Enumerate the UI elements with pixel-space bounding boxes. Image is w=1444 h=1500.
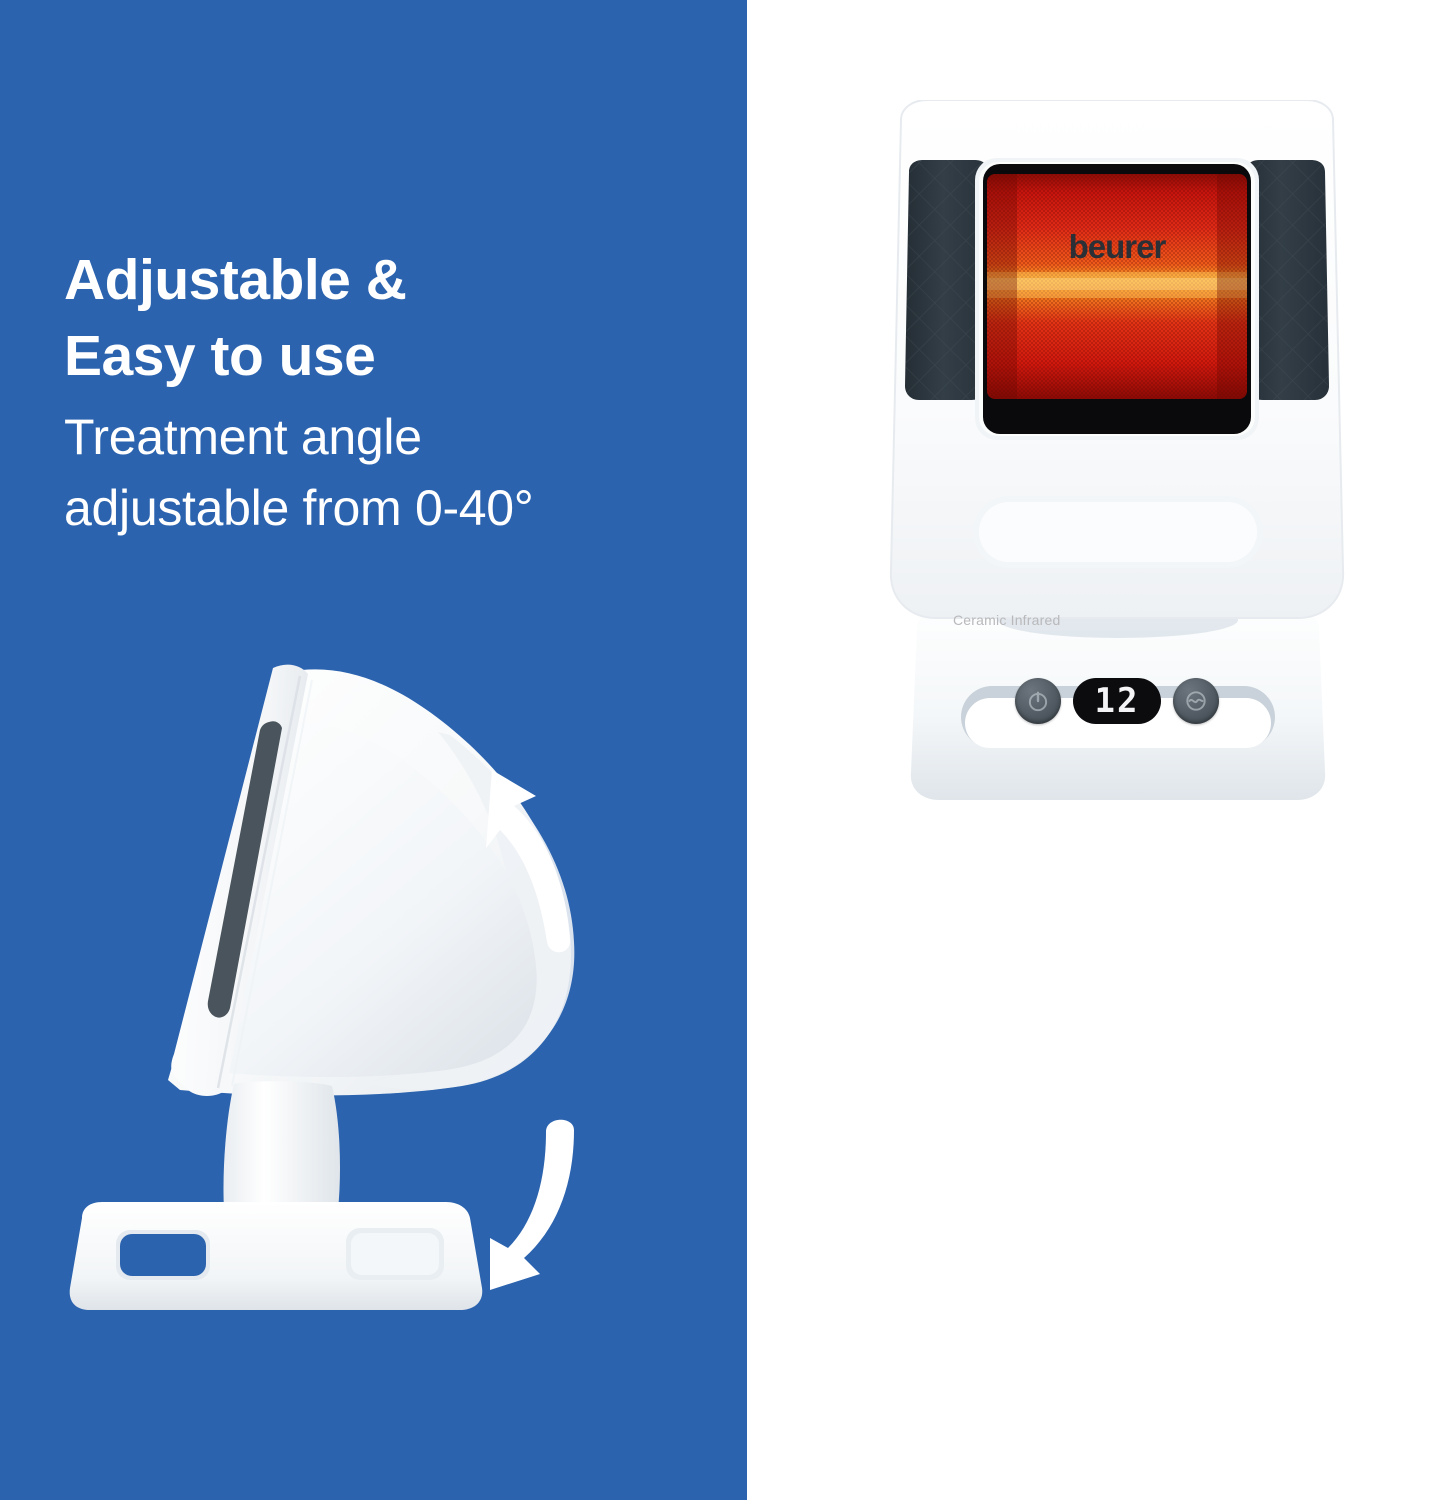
headline-line-2: Easy to use [64, 319, 704, 395]
brand-logo: beurer [1069, 228, 1166, 266]
power-button[interactable] [1015, 678, 1061, 724]
control-strip [973, 496, 1263, 568]
timer-value: 12 [1095, 684, 1140, 718]
product-photo-heater: beurer Ceramic Infrared 12 [857, 100, 1377, 825]
heater-stem [223, 1081, 340, 1210]
side-view-illustration [50, 650, 690, 1440]
left-feature-panel: Adjustable & Easy to use Treatment angle… [0, 0, 747, 1500]
heater-side-body [168, 665, 574, 1096]
marketing-image: Adjustable & Easy to use Treatment angle… [0, 0, 1444, 1500]
page-title: Adjustable & Easy to use [64, 243, 704, 395]
power-icon [1025, 688, 1051, 714]
emitter-label: Ceramic Infrared [953, 612, 1060, 628]
subhead-line-1: Treatment angle [64, 402, 744, 473]
subhead-line-2: adjustable from 0-40° [64, 473, 744, 544]
headline-line-1: Adjustable & [64, 243, 704, 319]
timer-icon [1183, 688, 1209, 714]
right-product-panel: beurer Ceramic Infrared 12 [747, 0, 1444, 1500]
infrared-emitter-panel [987, 174, 1247, 399]
timer-display: 12 [1073, 678, 1161, 724]
page-subtitle: Treatment angle adjustable from 0-40° [64, 402, 744, 544]
timer-button[interactable] [1173, 678, 1219, 724]
tilt-down-arrow [490, 1120, 574, 1290]
heater-base [70, 1202, 483, 1310]
